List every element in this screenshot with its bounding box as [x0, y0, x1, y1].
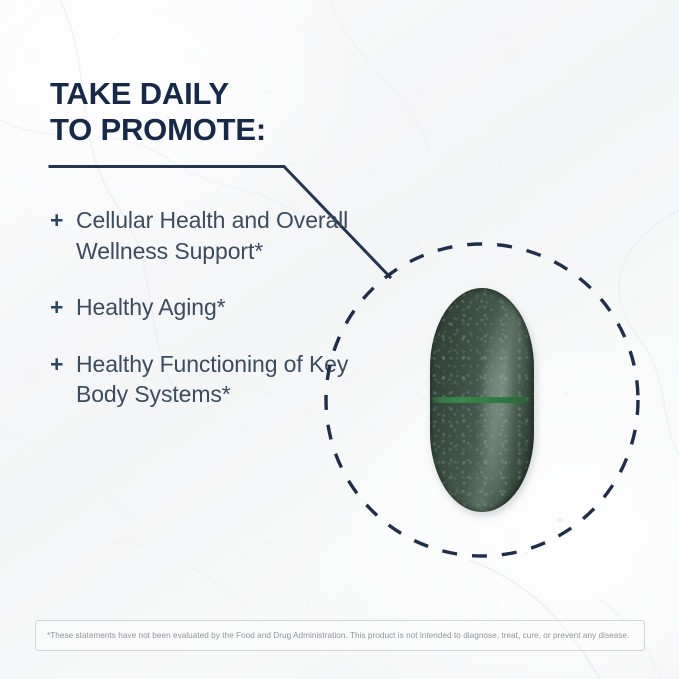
benefits-list: + Cellular Health and Overall Wellness S…	[50, 205, 355, 410]
headline-line-1: TAKE DAILY	[50, 76, 380, 112]
benefit-label: Healthy Aging*	[76, 292, 225, 323]
list-item: + Cellular Health and Overall Wellness S…	[50, 205, 355, 266]
plus-icon: +	[50, 205, 76, 235]
product-tablet	[430, 288, 534, 512]
list-item: + Healthy Aging*	[50, 292, 355, 323]
plus-icon: +	[50, 349, 76, 379]
product-spotlight	[324, 242, 640, 558]
product-benefits-panel: TAKE DAILY TO PROMOTE: + Cellular Health…	[0, 0, 679, 679]
plus-icon: +	[50, 292, 76, 322]
headline-line-2: TO PROMOTE:	[50, 112, 380, 148]
tablet-edge-shading	[430, 288, 534, 512]
page-title: TAKE DAILY TO PROMOTE:	[50, 76, 380, 149]
benefit-label: Cellular Health and Overall Wellness Sup…	[76, 205, 355, 266]
list-item: + Healthy Functioning of Key Body System…	[50, 349, 355, 410]
disclaimer-box: *These statements have not been evaluate…	[35, 620, 645, 651]
benefit-label: Healthy Functioning of Key Body Systems*	[76, 349, 355, 410]
disclaimer-text: *These statements have not been evaluate…	[47, 631, 629, 641]
